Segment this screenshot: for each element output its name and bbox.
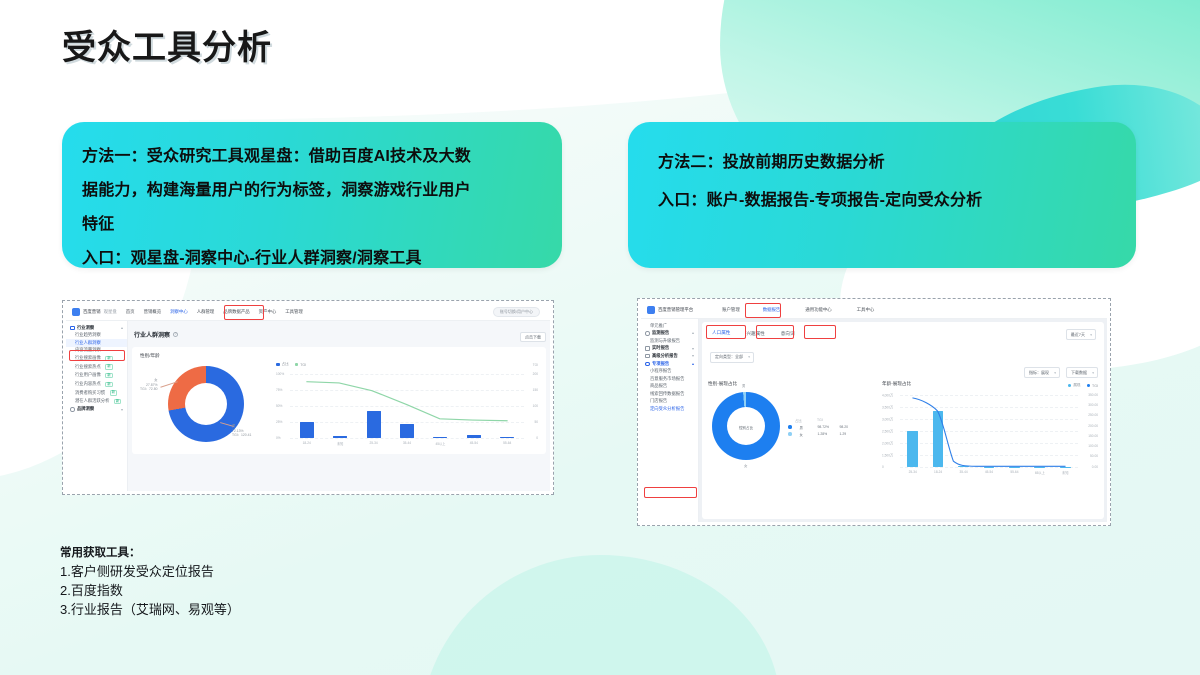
legend-tgi[interactable]: TGI: [295, 362, 307, 367]
account-pill[interactable]: 账号切换/用户中心: [493, 307, 540, 317]
gridline: [290, 438, 524, 439]
chevron-up-icon[interactable]: ▴: [692, 331, 694, 335]
highlight-audience-analysis: [644, 487, 697, 498]
download-select[interactable]: 下载数据: [1066, 367, 1098, 378]
legend-dot-male: [788, 425, 792, 429]
content-header: 行业人群洞察 ? 点击下载: [132, 325, 546, 343]
baidu-logo-icon: [647, 306, 655, 314]
guanxingpan-nav-right: 账号切换/用户中心: [493, 307, 544, 317]
age-bar-line-chart-right: 年龄-展现占比 展现 TGI: [882, 381, 1098, 477]
method-two-line-1: 方法二：投放前期历史数据分析: [658, 144, 1116, 182]
row-name: 女: [800, 432, 810, 437]
sidebar-item-potential-activity[interactable]: 潜在人群活跃分析 新: [66, 397, 127, 406]
new-badge: 新: [105, 373, 112, 378]
sidebar-item-brand-insight[interactable]: 品牌洞察 ▾: [66, 406, 127, 414]
guanxingpan-sidebar: 行业洞察 ▴ 行业趋势洞察 行业人群洞察 内容流量洞察 行业搜索画像 新 行业搜: [66, 321, 128, 491]
help-icon[interactable]: ?: [173, 332, 178, 337]
sidebar-label: 专项报告: [652, 362, 669, 366]
y-axis-right-label: TGI: [533, 363, 538, 367]
chevron-down-icon[interactable]: ▾: [121, 408, 123, 412]
x-tick: 45-54: [976, 470, 1001, 475]
brand-sub: 观星盘: [104, 309, 117, 315]
x-tick: 35-44: [390, 441, 423, 446]
chevron-down-icon[interactable]: ▾: [692, 347, 694, 351]
legend-table-row: 女 1.28% 1.29: [788, 432, 854, 437]
sidebar-item-lead-report[interactable]: 线索回传数据报告: [641, 390, 698, 397]
report-tabs: 人口属性 兴趣属性 意向词 最近7天: [708, 325, 1098, 343]
legend-dot-female: [788, 432, 792, 436]
legend-swatch-line: [295, 363, 299, 367]
nav-item-overview[interactable]: 营销概览: [144, 309, 162, 315]
sidebar-label: 内容流量洞察: [75, 348, 101, 352]
y-tick-left: 25%: [276, 420, 282, 424]
x-tick: 25-34: [357, 441, 390, 446]
footer-item-1: 1.客户侧研发受众定位报告: [60, 562, 240, 581]
x-tick: 45-54: [457, 441, 490, 446]
col-tgi: TGI: [817, 418, 831, 423]
new-badge: 新: [105, 364, 112, 369]
sidebar-label: 消费者购买习惯: [75, 391, 105, 395]
nav-item-common-center[interactable]: 通用功能中心: [805, 307, 831, 313]
chart-icon: [645, 354, 650, 359]
gender-donut-chart-right: 性别占比 男 女: [708, 390, 784, 466]
method-one-line-3: 特征: [82, 208, 542, 242]
nav-item-tools[interactable]: 工具管理: [285, 309, 303, 315]
row-name: 男: [800, 425, 810, 430]
sidebar-item-special-report[interactable]: 专项报告 ▴: [641, 360, 698, 368]
gridline: [900, 467, 1078, 468]
sidebar-item-user-portrait[interactable]: 行业用户画像 新: [66, 371, 127, 380]
sidebar-item-search-hotspot[interactable]: 行业搜索热点 新: [66, 363, 127, 372]
donut-center-label: 性别占比: [708, 390, 784, 466]
marketing-brand: 百度营销管理平台: [647, 306, 693, 314]
grid-icon: [645, 346, 650, 351]
marketing-sidebar: 单元推广 监测报告 ▴ 监测与升级报告 实时报告 ▾ 高级分析报告: [641, 319, 699, 522]
date-range-select[interactable]: 最近7天: [1066, 329, 1096, 340]
sidebar-item-industry-insight[interactable]: 行业洞察 ▴: [66, 324, 127, 332]
legend-impressions[interactable]: 展现: [1068, 383, 1081, 388]
sidebar-label: 监测报告: [652, 331, 669, 335]
y-tick-left: 0: [882, 465, 884, 469]
tab-intent-words[interactable]: 意向词: [781, 331, 795, 339]
legend-table-header: 占比 TGI: [788, 418, 854, 423]
x-tick: 未知: [323, 441, 356, 446]
brand-name: 百度营销: [83, 309, 101, 315]
legend-swatch-bar: [276, 363, 280, 367]
sidebar-label: 小程序报告: [650, 369, 671, 373]
sidebar-item-purchase-habit[interactable]: 消费者购买习惯 新: [66, 389, 127, 398]
y-tick-left: 1,500万: [882, 452, 893, 457]
y-tick-right: 250.00: [1088, 413, 1098, 417]
highlight-tab-intent: [804, 325, 836, 339]
sidebar-label: 高级分析报告: [652, 354, 678, 358]
sidebar-item-product-report[interactable]: 商品报告: [641, 383, 698, 390]
sidebar-label: 行业搜索热点: [75, 365, 101, 369]
sidebar-item-baiyi-market-report[interactable]: 百意服务市场报告: [641, 375, 698, 382]
legend-share[interactable]: 占比: [276, 362, 289, 367]
donut-label-male: 男 72.13% TGI：120.41: [232, 424, 251, 438]
y-tick-left: 2,500万: [882, 428, 893, 433]
sidebar-item-miniprogram-report[interactable]: 小程序报告: [641, 368, 698, 375]
donut-label-female: 女 27.87% TGI：72.80: [140, 378, 158, 392]
col-share: 占比: [795, 418, 809, 423]
sidebar-item-content-traffic[interactable]: 内容流量洞察: [66, 347, 127, 354]
row-share: 98.72%: [818, 425, 832, 429]
guanxingpan-content: 行业人群洞察 ? 点击下载 性别/年龄 女 27.87%: [128, 321, 550, 491]
nav-item-tool-center[interactable]: 工具中心: [857, 307, 875, 313]
brand-name: 百度营销管理平台: [658, 307, 693, 313]
gender-donut-chart: 女 27.87% TGI：72.80 男 72.13% TGI：120.41: [140, 362, 270, 446]
nav-item-audience-manage[interactable]: 人群管理: [197, 309, 215, 315]
y-tick-left: 100%: [276, 372, 284, 376]
gender-block: 性别-展现占比 性别占比 男 女 占比: [708, 381, 876, 466]
tgi-line-series: [290, 374, 524, 438]
download-button[interactable]: 点击下载: [520, 332, 546, 342]
footer-item-2: 2.百度指数: [60, 581, 240, 600]
row-tgi: 1.29: [840, 432, 854, 436]
marketing-topnav: 百度营销管理平台 账户管理 数据报告 通用功能中心 工具中心: [641, 302, 1107, 319]
legend-tgi-right[interactable]: TGI: [1087, 383, 1099, 388]
y-tick-right: 100: [533, 404, 538, 408]
sidebar-label: 潜在人群活跃分析: [75, 399, 109, 403]
y-tick-left: 4,000万: [882, 393, 893, 398]
brand-icon: [70, 407, 75, 412]
row-tgi: 98.20: [840, 425, 854, 429]
donut-label-top: 男: [742, 384, 745, 389]
y-tick-left: 50%: [276, 404, 282, 408]
chevron-up-icon[interactable]: ▴: [692, 362, 694, 366]
legend-swatch-line: [1087, 384, 1091, 388]
nav-item-brand-data[interactable]: 品牌数据产品: [223, 309, 249, 315]
x-tick: 35-44: [951, 470, 976, 475]
tab-interests[interactable]: 兴趣属性: [746, 331, 764, 339]
chevron-up-icon[interactable]: ▴: [121, 326, 123, 330]
charts-row: 女 27.87% TGI：72.80 男 72.13% TGI：120.41: [140, 362, 538, 448]
y-tick-right: 150: [533, 388, 538, 392]
x-tick: 25-34: [900, 470, 925, 475]
x-axis-labels-right: 25-34 18-24 35-44 45-54 55-64 65以上 未知: [900, 470, 1078, 475]
y-tick-right: 100.00: [1088, 444, 1098, 448]
gender-legend-table: 占比 TGI 男 98.72% 98.20: [788, 418, 854, 439]
sidebar-item-advanced-report[interactable]: 高级分析报告 ▾: [641, 352, 698, 360]
footer-heading: 常用获取工具：: [60, 545, 240, 562]
sidebar-item-store-report[interactable]: 门店报告: [641, 398, 698, 405]
targeting-type-select[interactable]: 定向类型：全部: [710, 352, 754, 363]
x-tick: 18-24: [925, 470, 950, 475]
metric-select[interactable]: 指标：展现: [1024, 367, 1060, 378]
sidebar-label: 商品报告: [650, 384, 667, 388]
sidebar-item-unit-promo[interactable]: 单元推广: [641, 322, 698, 329]
y-tick-right: 0.00: [1092, 465, 1098, 469]
x-tick: 45以上: [424, 441, 457, 446]
marketing-content: 人口属性 兴趣属性 意向词 最近7天 定向类型：全部: [699, 319, 1107, 522]
sidebar-item-monitor-report[interactable]: 监测报告 ▴: [641, 329, 698, 337]
tgi-line-series-right: [900, 395, 1078, 467]
y-tick-left: 2,000万: [882, 440, 893, 445]
sidebar-item-realtime-report[interactable]: 实时报告 ▾: [641, 345, 698, 353]
chart-legend: 占比 TGI: [276, 362, 538, 367]
tab-demographics[interactable]: 人口属性: [712, 330, 730, 339]
new-badge: 新: [105, 382, 112, 387]
sidebar-label: 行业搜索画像: [75, 356, 101, 360]
sidebar-label: 行业趋势洞察: [75, 333, 101, 337]
nav-item-asset-center[interactable]: 资产中心: [259, 309, 277, 315]
guanxingpan-body: 行业洞察 ▴ 行业趋势洞察 行业人群洞察 内容流量洞察 行业搜索画像 新 行业搜: [66, 321, 550, 491]
method-one-line-2: 据能力，构建海量用户的行为标签，洞察游戏行业用户: [82, 174, 542, 208]
method-one-line-1: 方法一：受众研究工具观星盘：借助百度AI技术及大数: [82, 140, 542, 174]
report-charts-row: 性别-展现占比 性别占比 男 女 占比: [708, 381, 1098, 477]
row-share: 1.28%: [818, 432, 832, 436]
x-tick: 55-64: [491, 441, 524, 446]
legend-table-row: 男 98.72% 98.20: [788, 425, 854, 430]
sidebar-label: 实时报告: [652, 346, 669, 350]
tabrow-right: 最近7天: [1066, 329, 1096, 340]
x-tick: 未知: [1053, 470, 1078, 475]
nav-item-account-manage[interactable]: 账户管理: [722, 307, 740, 313]
clock-icon: [645, 331, 650, 336]
legend-swatch-bar: [1068, 384, 1072, 388]
new-badge: 新: [114, 399, 121, 404]
y-tick-right: 50: [534, 420, 538, 424]
sidebar-label: 定向受众分析报告: [650, 407, 684, 411]
footer-tools-list: 常用获取工具： 1.客户侧研发受众定位报告 2.百度指数 3.行业报告（艾瑞网、…: [60, 545, 240, 619]
sidebar-item-trend-insight[interactable]: 行业趋势洞察: [66, 332, 127, 339]
chart-legend-right: 展现 TGI: [1068, 383, 1098, 388]
gender-chart-title: 性别-展现占比: [708, 381, 876, 387]
chart-plot-area: 100% 75% 50% 25% 0% TGI 200 150 100 50 0: [290, 374, 524, 438]
x-tick: 65以上: [1027, 470, 1052, 475]
content-header-right: 点击下载: [520, 325, 546, 343]
marketing-platform-app: 百度营销管理平台 账户管理 数据报告 通用功能中心 工具中心 单元推广 监测报告…: [641, 302, 1107, 522]
filter-row: 定向类型：全部: [708, 343, 1098, 367]
x-tick: 55-64: [1002, 470, 1027, 475]
method-two-entry: 入口：账户-数据报告-专项报告-定向受众分析: [658, 182, 1116, 220]
doc-icon: [645, 362, 650, 367]
chart-plot-area-right: 4,000万 3,500万 3,000万 2,500万 2,000万 1,500…: [900, 395, 1078, 467]
nav-item-insight-center[interactable]: 洞察中心: [170, 309, 188, 315]
guanxingpan-topnav: 百度营销 观星盘 首页 营销概览 洞察中心 人群管理 品牌数据产品 资产中心 工…: [66, 304, 550, 321]
y-tick-right: 0: [536, 436, 538, 440]
industry-icon: [70, 326, 75, 331]
sidebar-label: 行业洞察: [77, 326, 94, 330]
sidebar-label: 单元推广: [650, 324, 667, 328]
guanxingpan-brand: 百度营销 观星盘: [72, 308, 117, 316]
chart-toolbar: 指标：展现 下载数据: [708, 367, 1098, 381]
new-badge: 新: [105, 356, 112, 361]
new-badge: 新: [110, 390, 117, 395]
y-tick-right: 150.00: [1088, 434, 1098, 438]
sidebar-item-monitor-upgrade[interactable]: 监测与升级报告: [641, 337, 698, 344]
page-title: 受众工具分析: [62, 20, 272, 69]
method-one-card: 方法一：受众研究工具观星盘：借助百度AI技术及大数 据能力，构建海量用户的行为标…: [62, 122, 562, 268]
sidebar-item-audience-analysis-report[interactable]: 定向受众分析报告: [641, 405, 698, 412]
sidebar-item-content-hotspot[interactable]: 行业内容热点 新: [66, 380, 127, 389]
sidebar-label: 线索回传数据报告: [650, 392, 684, 396]
sidebar-label: 百意服务市场报告: [650, 377, 684, 381]
screenshot-marketing-platform: 百度营销管理平台 账户管理 数据报告 通用功能中心 工具中心 单元推广 监测报告…: [637, 298, 1111, 526]
age-bar-line-chart: 占比 TGI: [276, 362, 538, 448]
chevron-down-icon[interactable]: ▾: [692, 354, 694, 358]
baidu-logo-icon: [72, 308, 80, 316]
y-tick-left: 3,000万: [882, 416, 893, 421]
marketing-body: 单元推广 监测报告 ▴ 监测与升级报告 实时报告 ▾ 高级分析报告: [641, 319, 1107, 522]
report-panel: 人口属性 兴趣属性 意向词 最近7天 定向类型：全部: [702, 322, 1104, 519]
sidebar-item-audience-insight[interactable]: 行业人群洞察: [66, 339, 127, 346]
sidebar-item-search-portrait[interactable]: 行业搜索画像 新: [66, 354, 127, 363]
gender-age-panel: 性别/年龄 女 27.87% TGI：72.80 男: [132, 347, 546, 454]
age-chart-title: 年龄-展现占比: [882, 381, 911, 387]
y-tick-right: 200.00: [1088, 424, 1098, 428]
y-tick-right: 350.00: [1088, 393, 1098, 397]
sidebar-label: 行业内容热点: [75, 382, 101, 386]
method-one-entry: 入口：观星盘-洞察中心-行业人群洞察/洞察工具: [82, 242, 542, 276]
y-tick-right: 200: [533, 372, 538, 376]
y-tick-left: 3,500万: [882, 404, 893, 409]
nav-item-data-report[interactable]: 数据报告: [763, 307, 781, 313]
sidebar-label: 行业人群洞察: [75, 341, 101, 345]
footer-item-3: 3.行业报告（艾瑞网、易观等）: [60, 600, 240, 619]
screenshot-guanxingpan: 百度营销 观星盘 首页 营销概览 洞察中心 人群管理 品牌数据产品 资产中心 工…: [62, 300, 554, 495]
nav-item-home[interactable]: 首页: [126, 309, 135, 315]
y-tick-right: 50.00: [1090, 454, 1098, 458]
guanxingpan-app: 百度营销 观星盘 首页 营销概览 洞察中心 人群管理 品牌数据产品 资产中心 工…: [66, 304, 550, 491]
x-tick: 18-24: [290, 441, 323, 446]
y-tick-left: 75%: [276, 388, 282, 392]
sidebar-label: 品牌洞察: [77, 407, 94, 411]
panel-title: 性别/年龄: [140, 353, 538, 359]
sidebar-label: 门店报告: [650, 399, 667, 403]
y-tick-left: 0%: [276, 436, 281, 440]
y-tick-right: 300.00: [1088, 403, 1098, 407]
sidebar-label: 行业用户画像: [75, 373, 101, 377]
sidebar-label: 监测与升级报告: [650, 339, 680, 343]
x-axis-labels: 18-24 未知 25-34 35-44 45以上 45-54 55-64: [290, 441, 524, 446]
method-two-card: 方法二：投放前期历史数据分析 入口：账户-数据报告-专项报告-定向受众分析: [628, 122, 1136, 268]
page-heading: 行业人群洞察: [134, 330, 170, 339]
